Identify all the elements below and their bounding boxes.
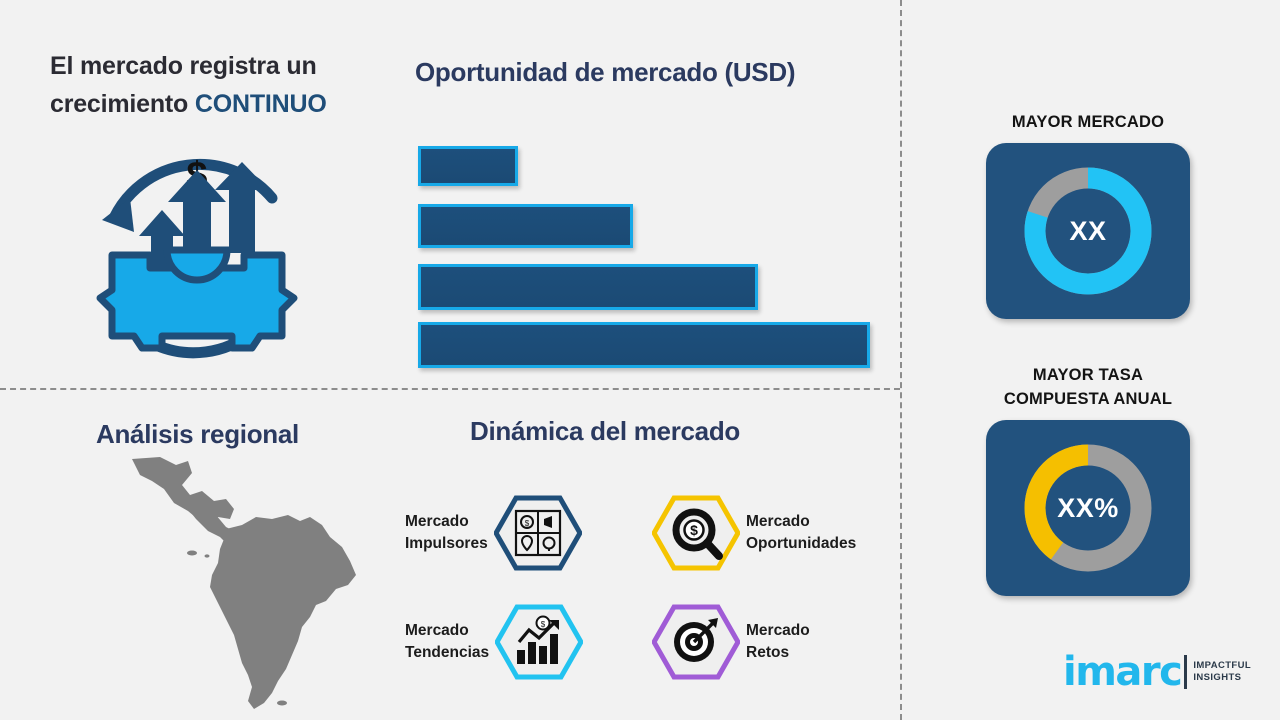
kpi-card-highest-cagr: MAYOR TASA COMPUESTA ANUAL XX% bbox=[984, 363, 1192, 596]
horizontal-divider bbox=[0, 388, 900, 390]
svg-text:$: $ bbox=[541, 620, 546, 629]
growth-bar-chart-icon: $ bbox=[495, 604, 583, 680]
kpi-card-largest-market: MAYOR MERCADO XX bbox=[984, 110, 1192, 319]
regional-heading: Análisis regional bbox=[96, 419, 396, 450]
logo-divider bbox=[1184, 655, 1187, 689]
dynamics-item-impulsores[interactable]: Mercado Impulsores $ bbox=[405, 495, 582, 571]
kpi-card-highest-cagr-title: MAYOR TASA COMPUESTA ANUAL bbox=[984, 363, 1192, 411]
svg-text:$: $ bbox=[524, 519, 529, 528]
target-arrow-icon bbox=[652, 604, 740, 680]
growth-heading-line1: El mercado registra un bbox=[50, 52, 317, 80]
growth-cycle-gear-icon: $ bbox=[72, 140, 322, 375]
growth-heading: El mercado registra un crecimiento CONTI… bbox=[50, 47, 400, 123]
opportunity-bar-chart bbox=[418, 146, 878, 356]
growth-heading-accent: CONTINUO bbox=[195, 90, 327, 118]
imarc-logo: imarc IMPACTFUL INSIGHTS bbox=[1063, 652, 1251, 692]
imarc-logo-tagline: IMPACTFUL INSIGHTS bbox=[1193, 660, 1251, 684]
dynamics-item-oportunidades-label: Mercado Oportunidades bbox=[746, 511, 856, 555]
dynamics-item-oportunidades[interactable]: $ Mercado Oportunidades bbox=[652, 495, 856, 571]
svg-text:$: $ bbox=[690, 522, 698, 538]
growth-heading-line2-plain: crecimiento bbox=[50, 90, 195, 118]
bar-3 bbox=[418, 264, 758, 310]
kpi-card-largest-market-title: MAYOR MERCADO bbox=[984, 110, 1192, 134]
largest-market-value: XX bbox=[986, 143, 1190, 319]
dynamics-item-tendencias-label: Mercado Tendencias bbox=[405, 620, 489, 664]
vertical-divider bbox=[900, 0, 902, 720]
bar-2 bbox=[418, 204, 633, 248]
highest-cagr-donut-card: XX% bbox=[986, 420, 1190, 596]
puzzle-pieces-icon: $ bbox=[494, 495, 582, 571]
imarc-logo-mark: imarc bbox=[1063, 652, 1181, 692]
infographic-canvas: El mercado registra un crecimiento CONTI… bbox=[0, 0, 1280, 720]
largest-market-donut-card: XX bbox=[986, 143, 1190, 319]
dynamics-item-retos-label: Mercado Retos bbox=[746, 620, 810, 664]
opportunity-heading: Oportunidad de mercado (USD) bbox=[415, 57, 885, 88]
latin-america-map bbox=[130, 455, 380, 713]
dynamics-heading: Dinámica del mercado bbox=[470, 416, 870, 447]
bar-4 bbox=[418, 322, 870, 368]
dynamics-item-impulsores-label: Mercado Impulsores bbox=[405, 511, 488, 555]
magnifier-dollar-icon: $ bbox=[652, 495, 740, 571]
bar-1 bbox=[418, 146, 518, 186]
dynamics-item-tendencias[interactable]: Mercado Tendencias $ bbox=[405, 604, 583, 680]
dynamics-item-retos[interactable]: Mercado Retos bbox=[652, 604, 810, 680]
highest-cagr-value: XX% bbox=[986, 420, 1190, 596]
